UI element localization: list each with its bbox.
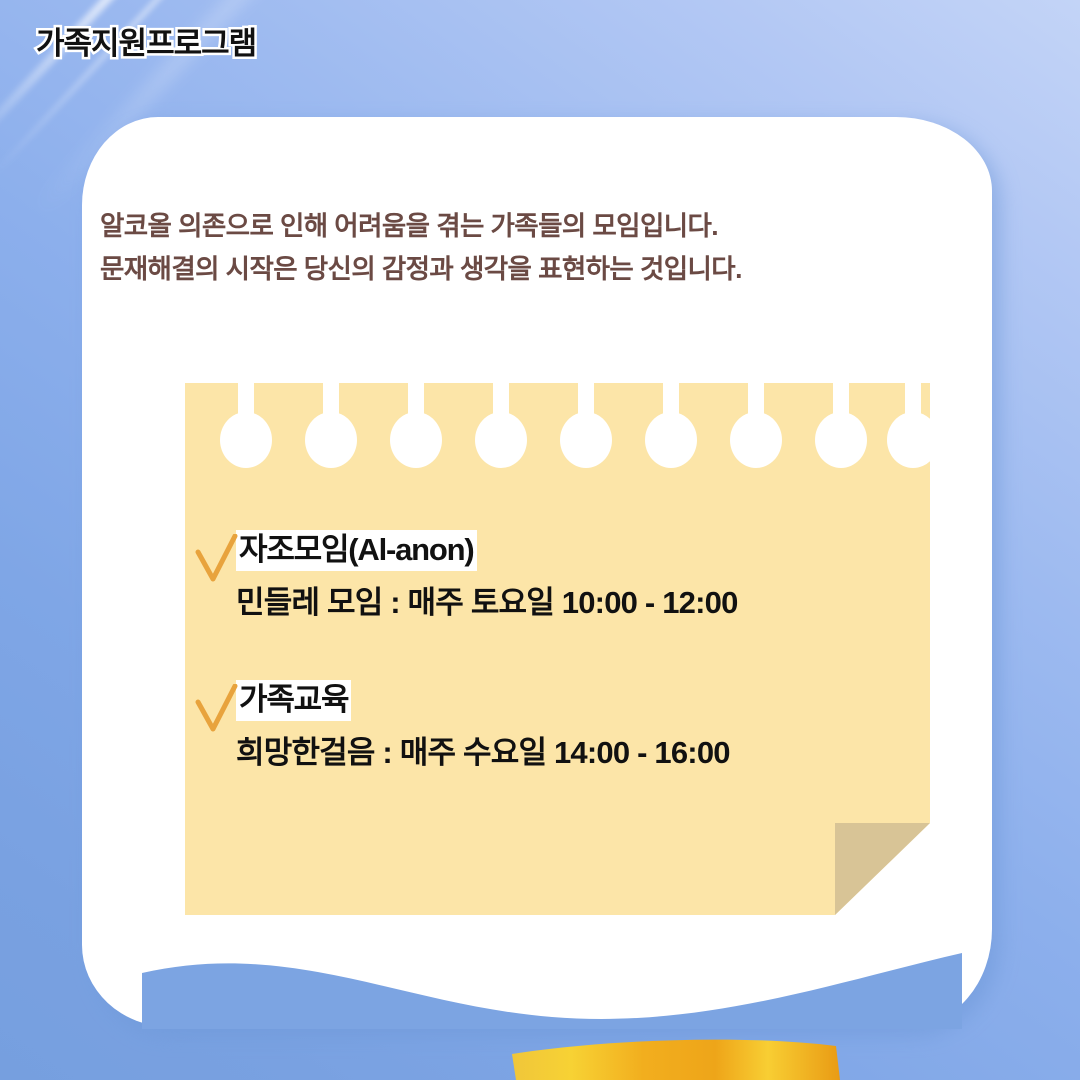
page-title: 가족지원프로그램	[36, 18, 256, 63]
item-heading: 자조모임(Al-anon)	[236, 530, 477, 571]
intro-paragraph: 알코올 의존으로 인해 어려움을 겪는 가족들의 모임입니다. 문재해결의 시작…	[100, 205, 742, 291]
item-heading: 가족교육	[236, 680, 351, 721]
item-detail: 희망한걸음 : 매주 수요일 14:00 - 16:00	[236, 727, 960, 772]
program-list: 자조모임(Al-anon) 민들레 모임 : 매주 토요일 10:00 - 12…	[200, 530, 960, 772]
check-icon	[194, 684, 238, 736]
check-icon	[194, 534, 238, 586]
item-detail: 민들레 모임 : 매주 토요일 10:00 - 12:00	[236, 577, 960, 622]
intro-line-1: 알코올 의존으로 인해 어려움을 겪는 가족들의 모임입니다.	[100, 205, 742, 248]
list-item: 가족교육 희망한걸음 : 매주 수요일 14:00 - 16:00	[200, 680, 960, 772]
list-item: 자조모임(Al-anon) 민들레 모임 : 매주 토요일 10:00 - 12…	[200, 530, 960, 622]
poster-canvas: 가족지원프로그램 알코올 의존으로 인해 어려움을 겪는 가족들의 모임입니다.…	[0, 0, 1080, 1080]
intro-line-2: 문재해결의 시작은 당신의 감정과 생각을 표현하는 것입니다.	[100, 248, 742, 291]
golden-ribbon-icon	[510, 1034, 840, 1080]
card-wave-edge	[142, 909, 962, 1029]
